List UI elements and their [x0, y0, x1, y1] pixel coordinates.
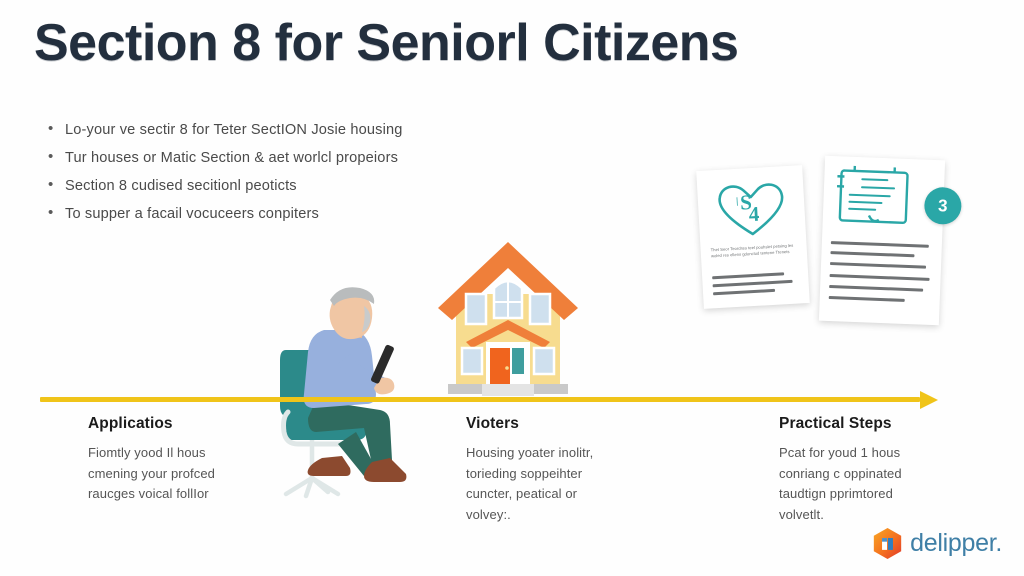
timeline-step-2: Vioters Housing yoater inolitr, toriedin… — [466, 415, 681, 525]
card-text-line — [831, 241, 929, 247]
house-window-upper-right — [530, 294, 550, 324]
clipboard-icon — [830, 164, 922, 231]
status-badge: 3 — [924, 187, 962, 225]
step-heading: Applicatios — [88, 415, 303, 433]
arrow-head — [920, 391, 938, 409]
card-text-line — [830, 274, 930, 280]
list-item: Tur houses or Matic Section & aet worlcl… — [46, 144, 516, 172]
card-text-line — [830, 262, 926, 268]
house-window-lower-right — [534, 348, 554, 374]
list-item: To supper a facail vocuceers conpiters — [46, 200, 516, 228]
svg-text:|: | — [736, 196, 739, 206]
brand-logo: delipper. — [872, 527, 1002, 560]
list-item: Lo-your ve sectir 8 for Teter SectION Jo… — [46, 116, 516, 144]
delipper-hexagon-icon — [872, 527, 903, 560]
step-body: Fiomtly yood Il hous cmening your profce… — [88, 443, 303, 505]
card-text-line — [829, 296, 905, 302]
house-window-upper-left — [466, 294, 486, 324]
house-window-lower-left — [462, 348, 482, 374]
timeline-step-3: Practical Steps Pcat for youd 1 hous con… — [779, 415, 994, 525]
heart-dollar-icon: S | 4 — [696, 169, 806, 247]
svg-text:4: 4 — [748, 202, 760, 227]
timeline-arrow — [40, 391, 938, 409]
arrow-shaft — [40, 397, 920, 402]
card-text-line — [712, 272, 784, 279]
page-title: Section 8 for Seniorl Citizens — [34, 14, 994, 74]
infographic-slide: Section 8 for Seniorl Citizens Lo-your v… — [0, 0, 1024, 576]
bullet-list: Lo-your ve sectir 8 for Teter SectION Jo… — [46, 116, 516, 228]
house-door — [490, 348, 510, 384]
benefit-card: S | 4 Thet Seor Teorcltes teel pouhslet … — [696, 165, 810, 309]
card-text-line — [713, 289, 775, 295]
document-cards-illustration: S | 4 Thet Seor Teorcltes teel pouhslet … — [692, 158, 954, 330]
house-illustration — [432, 232, 584, 400]
step-body: Housing yoater inolitr, torieding soppei… — [466, 443, 681, 525]
step-heading: Practical Steps — [779, 415, 994, 433]
card-text-line — [830, 251, 914, 257]
list-item: Section 8 cudised secitionl peoticts — [46, 172, 516, 200]
card-text-line — [713, 280, 793, 287]
house-door-sidelight — [512, 348, 524, 374]
step-body: Pcat for youd 1 hous conriang c oppinate… — [779, 443, 994, 525]
card-text-line — [829, 285, 923, 291]
door-knob — [505, 366, 509, 370]
step-heading: Vioters — [466, 415, 681, 433]
steps-card: 3 — [819, 156, 945, 325]
timeline-step-1: Applicatios Fiomtly yood Il hous cmening… — [88, 415, 303, 505]
logo-text: delipper. — [910, 529, 1002, 558]
